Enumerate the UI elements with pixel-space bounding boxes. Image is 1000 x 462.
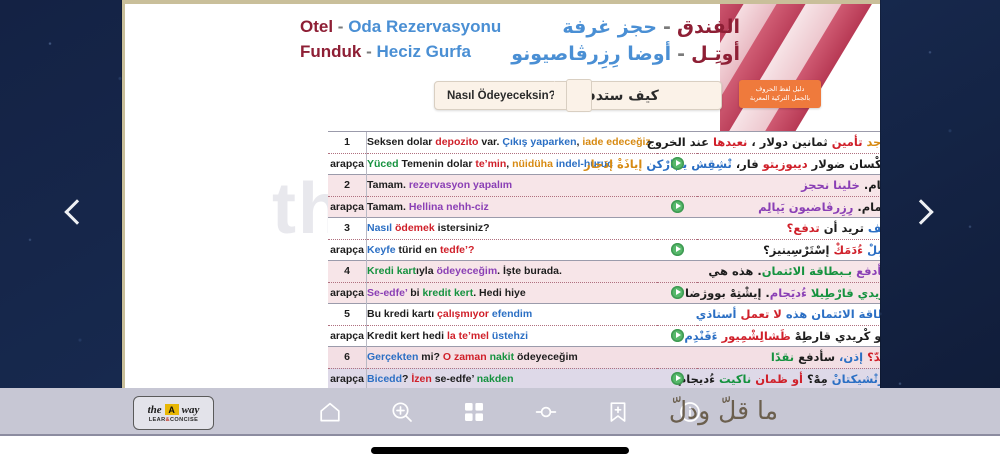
banner-knot [566,79,592,112]
text-segment: Kredit kert hedi [367,330,447,342]
bottom-arabic-motto: ما قلّ ودلّ [669,396,778,425]
banner-notch-left [554,81,566,107]
lesson-page: the A-way.com Copyright © 2022 Amjad Abu… [122,0,880,436]
text-segment: أو ظمان [751,372,803,386]
text-segment: لا تعمل [737,307,782,321]
text-segment: كيف [864,221,880,235]
text-segment: türid en [399,244,440,256]
text-segment: Temenin dolar [401,158,475,170]
row-number-left: 1 [328,132,367,154]
header-ar-sep-2: - [677,43,685,65]
row-number-left: 3 [328,218,367,240]
text-segment: la te’mel [447,330,492,342]
text-segment: iade edeceğiz [582,136,650,148]
text-segment: ظَشالِشْمِيور [718,329,791,343]
row-arabic-text: بوو كْريدي قارطِهْ ظَشالِشْمِيور ءَفَنْد… [697,325,880,347]
home-icon[interactable] [310,392,350,432]
row-number-left: 6 [328,347,367,369]
row-audio-cell [657,239,697,261]
text-segment: بوو كْريدي قارطِهْ [791,329,880,343]
text-segment: نَصِلْ [863,243,880,257]
row-latin-text: Kredi kartıyla ödeyeceğim. İşte burada. [367,261,658,283]
text-segment: ديبوزيتو [759,157,808,171]
row-audio-cell [657,196,697,218]
table-row: 1Seksen dolar depozito var. Çıkış yapark… [328,132,880,154]
row-arabic-text: بِجَدّ؟ إذن، سأدفع نقدًا [697,347,880,369]
row-latin-text: Seksen dolar depozito var. Çıkış yaparke… [367,132,658,154]
text-segment: غَرْتْشيكتانْ [828,372,880,386]
text-segment: Bu kredi kartı [367,308,437,320]
text-segment: nakit [490,351,517,363]
row-latin-text: Bu kredi kartı çalışmıyor efendim [367,304,658,326]
text-segment: Hellina nehh-ciz [409,201,489,213]
tagline-clear: LEAR [149,417,166,423]
toolbar-bottom-divider [0,434,1000,436]
next-page-button[interactable] [904,189,938,235]
guide-button-line-2: بالجمل التركية المعربة [750,94,810,103]
row-number-left: arapça [328,196,367,218]
header-turkish-line-1: Otel - Oda Rezervasyonu [300,14,501,39]
tagline-concise: CONCISE [170,417,198,423]
brand-logo-the: the [148,404,162,416]
row-latin-text: Bicedd? İzen se-edfe’ nakden [367,368,658,390]
toolbar-icon-group [310,388,710,436]
text-segment: ödeyeceğim [517,351,578,363]
text-segment: كريدي قارْطِيلا [807,286,880,300]
header-turkish-line-2: Funduk - Heciz Gurfa [300,39,501,64]
play-icon[interactable] [671,157,684,170]
text-segment: . هذه هي [708,264,761,278]
header-tr-word-2: Oda Rezervasyonu [348,17,501,36]
text-segment: مِهْ؟ [803,372,828,386]
brand-logo-tagline: LEAR&CONCISE [149,417,199,423]
table-row: arapçaKredit kert hedi la te’mel üstehzi… [328,325,880,347]
page-top-border [122,0,880,4]
table-row: 5Bu kredi kartı çalışmıyor efendimبطاقة … [328,304,880,326]
header-arabic: الفندق - حجز غرفة أوتِـل - أوضا رِزِرڤاص… [511,14,740,68]
text-segment: rezervasyon yapalım [409,179,512,191]
text-segment: se-edfe’ [435,373,477,385]
brand-logo-way: way [182,404,200,416]
play-icon[interactable] [671,372,684,385]
text-segment: تأمين [828,135,863,149]
table-row: 2Tamam. rezervasyon yapalımتمام. خلينا ن… [328,175,880,197]
text-segment: خلينا نحجز [801,178,860,192]
text-segment: تمام. [860,178,880,192]
chevron-left-icon [64,199,89,224]
header-ar-word-1: الفندق [677,16,740,38]
row-latin-text: Gerçekten mi? O zaman nakit ödeyeceğim [367,347,658,369]
text-segment: Nasıl [367,222,395,234]
brand-logo-letter: A [165,404,179,415]
text-segment: بِجَدّ؟ [863,350,880,364]
row-number-left: 5 [328,304,367,326]
table-row: arapçaTamam. Hellina nehh-cizطمام. رِزِر… [328,196,880,218]
row-number-left: 4 [328,261,367,283]
text-segment: ءَفَنْدِم [684,329,717,343]
text-segment: Bicedd [367,373,402,385]
text-segment: سأدفع [794,350,835,364]
text-segment: Yüced [367,158,401,170]
header-tr-sep-1: - [338,17,344,36]
text-segment: efendim [492,308,532,320]
dialogue-table-body: 1Seksen dolar depozito var. Çıkış yapark… [328,132,880,390]
play-icon[interactable] [671,286,684,299]
chevron-right-icon [908,199,933,224]
text-segment: سِكْسان ضولار [808,157,880,171]
text-segment: بـبطاقة الائتمان [762,264,852,278]
home-indicator-bar[interactable] [371,447,629,454]
table-row: 4Kredi kartıyla ödeyeceğim. İşte burada.… [328,261,880,283]
app-screen: the A-way.com Copyright © 2022 Amjad Abu… [0,0,1000,462]
header-tr-sep-2: - [366,42,372,61]
brand-logo-wordmark: the A way [148,404,200,416]
text-segment: ناكيت [715,372,751,386]
row-arabic-text: غَرْتْشيكتانْ مِهْ؟ أو ظمان ناكيت ءُديجا… [697,368,880,390]
text-segment: ödemek [395,222,438,234]
header-tr-word-4: Heciz Gurfa [377,42,471,61]
row-number-left: arapça [328,153,367,175]
play-icon[interactable] [671,329,684,342]
zoom-in-icon[interactable] [382,392,422,432]
add-bookmark-icon[interactable] [598,392,638,432]
header-ar-word-3: أوتِـل [691,43,740,65]
text-segment: çalışmıyor [437,308,492,320]
text-segment: عند الخروج [647,135,709,149]
text-segment: تريد أن [820,221,864,235]
row-latin-text: Tamam. rezervasyon yapalım [367,175,658,197]
text-segment: . Hedi hiye [473,287,526,299]
row-arabic-text: يوجد تأمين ثمانين دولار ، نعيدها عند الخ… [697,132,880,154]
text-segment: kredit kert [422,287,473,299]
table-row: arapçaYüced Temenin dolar te’min, nüidüh… [328,153,880,175]
text-segment: üstehzi [492,330,528,342]
text-segment: tedfe’? [440,244,474,256]
text-segment: Seksen dolar [367,136,435,148]
text-segment: . إيشْتِهْ بووژضا [685,286,770,300]
header-ar-word-2: حجز غرفة [562,16,657,38]
row-arabic-text: سأدفع بـبطاقة الائتمان. هذه هي [697,261,880,283]
brand-logo: the A way LEAR&CONCISE [133,396,214,430]
text-segment: O zaman [443,351,490,363]
text-segment: طمام. [853,200,880,214]
row-audio-cell [657,347,697,369]
row-audio-cell [657,261,697,283]
row-number-left: arapça [328,368,367,390]
text-segment: ثمانين دولار ، [747,135,827,149]
header-arabic-line-1: الفندق - حجز غرفة [511,14,740,41]
text-segment: إسْتَرْسِينيز؟ [763,243,829,257]
brightness-icon[interactable] [526,392,566,432]
table-row: arapçaKeyfe türid en tedfe’?نَصِلْ ءُدَم… [328,239,880,261]
text-segment: Kredi kart [367,265,416,277]
row-number-left: arapça [328,239,367,261]
row-arabic-text: بطاقة الائتمان هذه لا تعمل أستاذي [697,304,880,326]
table-row: arapçaBicedd? İzen se-edfe’ nakdenغَرْتْ… [328,368,880,390]
row-arabic-text: كيف تريد أن تدفع؟ [697,218,880,240]
row-arabic-text: نَصِلْ ءُدَمَكْ إسْتَرْسِينيز؟ [697,239,880,261]
prev-page-button[interactable] [60,189,94,235]
header-ar-sep-1: - [663,16,671,38]
text-segment: نقدًا [771,350,794,364]
row-audio-cell [657,218,697,240]
row-number-left: arapça [328,325,367,347]
text-segment: Çıkış yaparken [502,136,576,148]
row-arabic-text: طمام. رِزِرڤاضيون يَپالِم [697,196,880,218]
text-segment: depozito [435,136,481,148]
play-icon[interactable] [671,200,684,213]
header-tr-word-3: Funduk [300,42,361,61]
table-row: arapçaSe-edfe’ bi kredit kert. Hedi hiye… [328,282,880,304]
text-segment: istersiniz? [438,222,490,234]
text-segment: Tamam. [367,179,409,191]
text-segment: إذن، [835,350,863,364]
text-segment: te’min [475,158,506,170]
text-segment: تْشِقِش ياپارْكن [642,157,732,171]
text-segment: . İşte burada. [497,265,562,277]
dialogue-table: 1Seksen dolar depozito var. Çıkış yapark… [328,131,880,390]
corner-ribbons-decoration [720,0,880,132]
table-row: 3Nasıl ödemek istersiniz?كيف تريد أن تدف… [328,218,880,240]
row-audio-cell [657,175,697,197]
header-tr-word-1: Otel [300,17,333,36]
page-left-border [122,0,125,436]
text-segment: Keyfe [367,244,399,256]
text-segment: İzen [411,373,434,385]
text-segment: إياذَةْ إدَجاز [584,157,642,171]
text-segment: تدفع؟ [787,221,820,235]
text-segment: bi [410,287,422,299]
grid-view-icon[interactable] [454,392,494,432]
text-segment: يوجد [863,135,880,149]
row-number-left: arapça [328,282,367,304]
row-latin-text: Se-edfe’ bi kredit kert. Hedi hiye [367,282,658,304]
text-segment: سأدفع [852,264,880,278]
row-audio-cell [657,304,697,326]
row-arabic-text: سِكْسان ضولار ديبوزيتو فار، تْشِقِش ياپا… [697,153,880,175]
row-latin-text: Nasıl ödemek istersiniz? [367,218,658,240]
table-row: 6Gerçekten mi? O zaman nakit ödeyeceğimب… [328,347,880,369]
header-arabic-line-2: أوتِـل - أوضا رِزِرڤاصيونو [511,41,740,68]
text-segment: بطاقة الائتمان هذه [782,307,880,321]
text-segment: mi? [421,351,443,363]
text-segment: nüidüha [512,158,556,170]
row-latin-text: Tamam. Hellina nehh-ciz [367,196,658,218]
lesson-title-banner: Nasıl Ödeyeceksin? كيف ستدفع؟ [434,81,722,108]
row-number-left: 2 [328,175,367,197]
text-segment: Gerçekten [367,351,421,363]
header-turkish: Otel - Oda Rezervasyonu Funduk - Heciz G… [300,14,501,64]
guide-button-line-1: دليل لفظ الحروف [756,85,805,94]
text-segment: ödeyeceğim [436,265,497,277]
row-latin-text: Keyfe türid en tedfe’? [367,239,658,261]
play-icon[interactable] [671,243,684,256]
row-latin-text: Kredit kert hedi la te’mel üstehzi [367,325,658,347]
banner-turkish-label: Nasıl Ödeyeceksin? [447,90,556,102]
text-segment: ıyla [416,265,436,277]
text-segment: ءُدَمَكْ [829,243,863,257]
text-segment: Tamam. [367,201,409,213]
text-segment: var. [481,136,502,148]
text-segment: أستاذي [696,307,737,321]
header-ar-word-4: أوضا رِزِرڤاصيونو [511,43,671,65]
text-segment: Se-edfe’ [367,287,410,299]
text-segment: فار، [732,157,759,171]
row-arabic-text: تمام. خلينا نحجز [697,175,880,197]
text-segment: ءُديَجام [770,286,807,300]
text-segment: nakden [477,373,514,385]
text-segment: ? [402,373,411,385]
pronunciation-guide-button[interactable]: دليل لفظ الحروف بالجمل التركية المعربة [739,80,821,108]
text-segment: نعيدها [709,135,747,149]
text-segment: رِزِرڤاضيون يَپالِم [758,200,853,214]
row-arabic-text: كريدي قارْطِيلا ءُديَجام. إيشْتِهْ بووژض… [697,282,880,304]
